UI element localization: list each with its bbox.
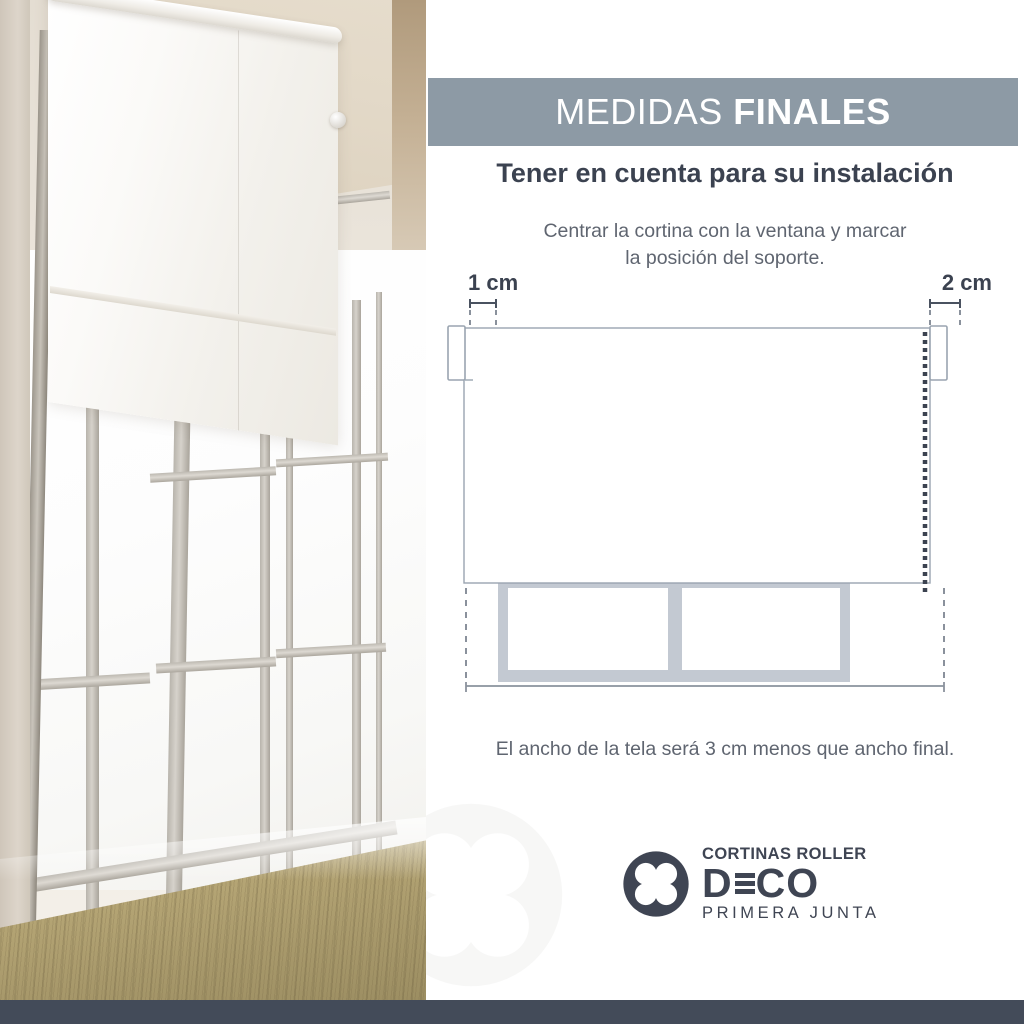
brand-logo: CORTINAS ROLLER D CO PRIMERA JUNTA [622, 846, 880, 922]
subtitle: Tener en cuenta para su instalación [426, 158, 1024, 189]
bottom-bar [0, 1000, 1024, 1024]
logo-name-d: D [702, 865, 733, 903]
photo-roller-endcap [330, 112, 346, 128]
logo-name-co: CO [756, 865, 820, 903]
header-banner: MEDIDAS FINALES [428, 78, 1018, 146]
photo-left-wall [0, 0, 30, 1000]
deco-flower-logo-icon [622, 850, 690, 918]
photo-roller-fabric [48, 0, 338, 445]
right-bracket [930, 326, 947, 380]
header-title-light: MEDIDAS [555, 91, 723, 132]
right-gap-label: 2 cm [942, 270, 992, 296]
footnote: El ancho de la tela será 3 cm menos que … [426, 738, 1024, 761]
infographic-root: MEDIDAS FINALES Tener en cuenta para su … [0, 0, 1024, 1024]
header-title-bold: FINALES [733, 91, 891, 132]
photo-fabric-seam [238, 30, 239, 430]
watermark-logo-icon [426, 800, 566, 990]
header-title: MEDIDAS FINALES [555, 91, 891, 133]
product-photo [0, 0, 426, 1000]
window-frame [498, 582, 850, 682]
logo-wordmark: CORTINAS ROLLER D CO PRIMERA JUNTA [702, 846, 880, 922]
lead-line-2: la posición del soporte. [426, 245, 1024, 272]
lead-paragraph: Centrar la cortina con la ventana y marc… [426, 218, 1024, 272]
content-panel: MEDIDAS FINALES Tener en cuenta para su … [426, 0, 1024, 1000]
roller-fabric [464, 328, 930, 583]
left-gap-dimension [470, 299, 496, 330]
photo-mullion-vertical-6 [376, 292, 382, 852]
lead-line-1: Centrar la cortina con la ventana y marc… [426, 218, 1024, 245]
photo-mullion-vertical-5 [352, 300, 361, 860]
logo-name: D CO [702, 865, 880, 903]
logo-e-bars-icon [735, 873, 755, 894]
logo-tagline-bottom: PRIMERA JUNTA [702, 905, 880, 922]
left-gap-label: 1 cm [468, 270, 518, 296]
roller-blind-installation-diagram [426, 296, 1024, 728]
